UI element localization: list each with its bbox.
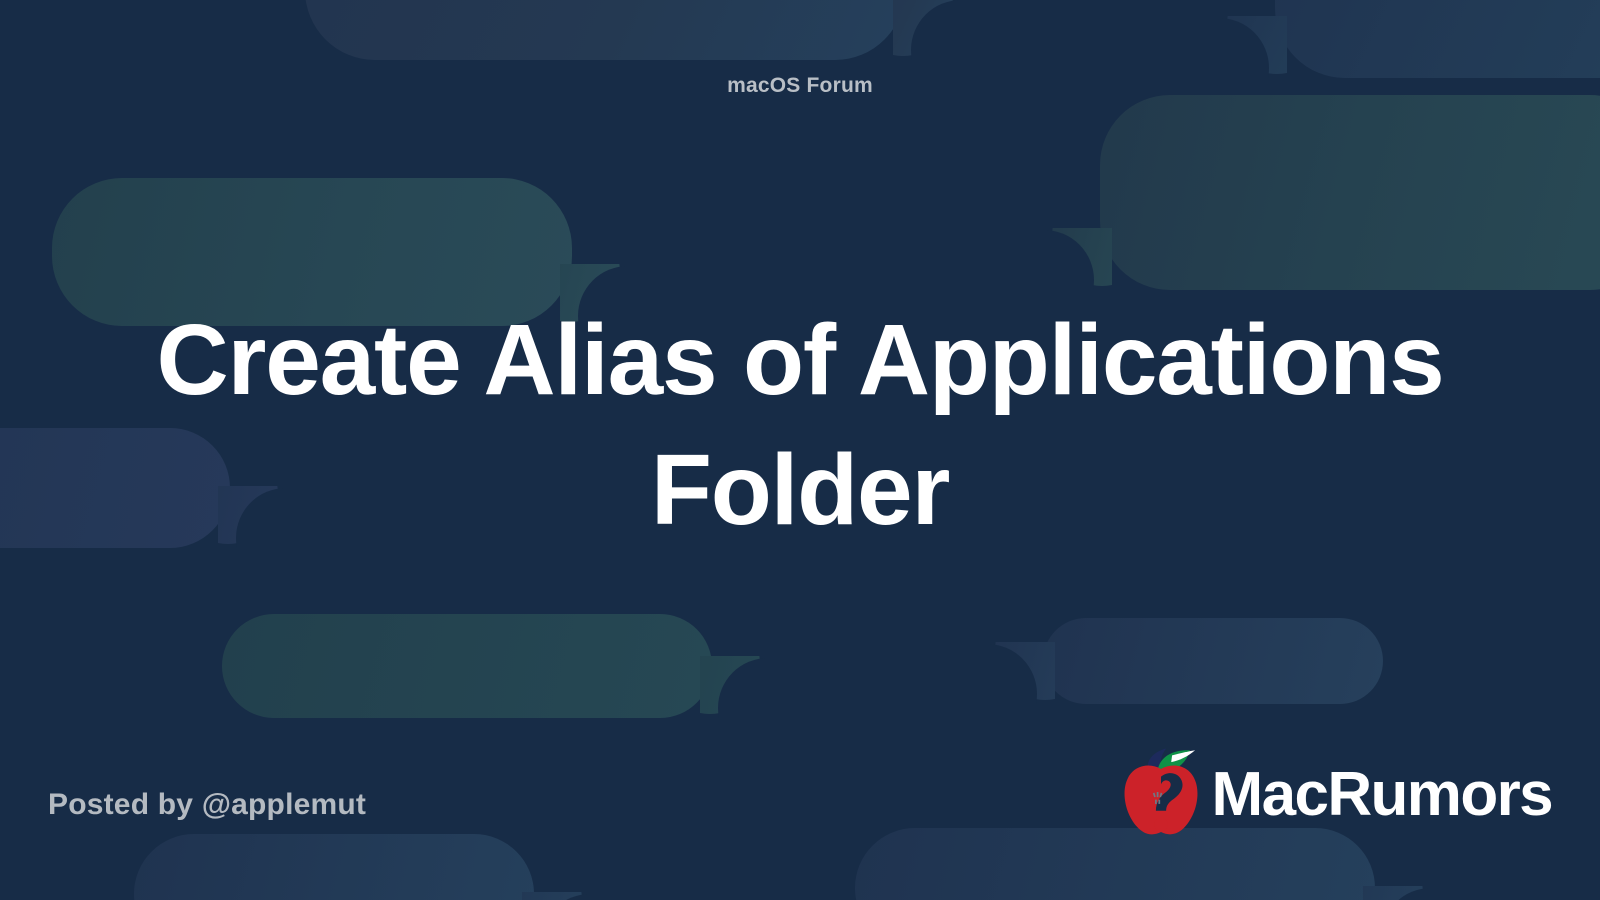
share-card: macOS Forum Create Alias of Applications… (0, 0, 1600, 900)
posted-by-label: Posted by @applemut (48, 788, 366, 822)
card-content: macOS Forum Create Alias of Applications… (0, 0, 1600, 900)
forum-label: macOS Forum (0, 74, 1600, 98)
macrumors-wordmark: MacRumors (1212, 764, 1552, 826)
macrumors-apple-question-mark-icon (1118, 746, 1204, 838)
page-title: Create Alias of Applications Folder (60, 295, 1540, 555)
macrumors-logo[interactable]: MacRumors (1118, 746, 1552, 838)
